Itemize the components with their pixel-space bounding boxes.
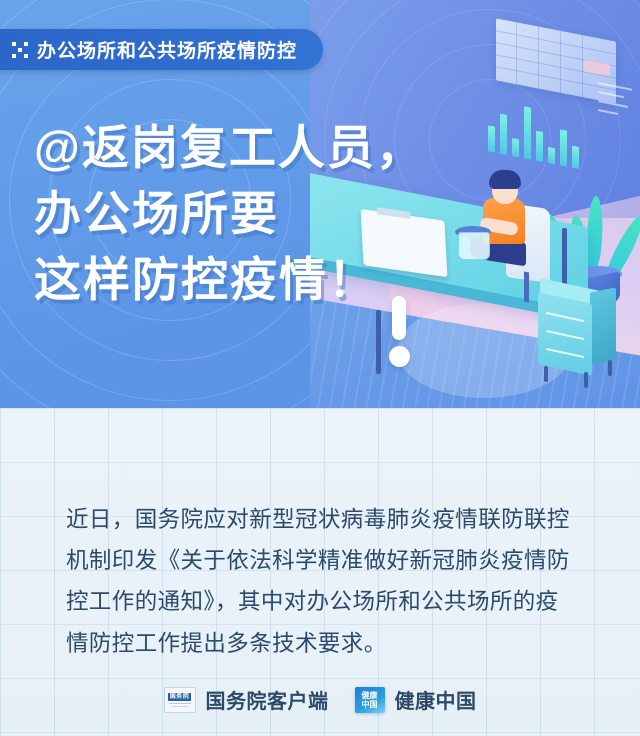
person-hair — [489, 170, 521, 189]
guowuyuan-logo-icon: 国务院 — [164, 687, 196, 713]
guowuyuan-logo-text: 国务院 — [168, 693, 192, 701]
body-paragraph: 近日，国务院应对新型冠状病毒肺炎疫情联防联控机制印发《关于依法科学精准做好新冠肺… — [66, 499, 576, 665]
brand-label-guowuyuan: 国务院客户端 — [206, 685, 329, 714]
brand-label-jiankang: 健康中国 — [395, 685, 477, 714]
brand-jiankang-zhongguo: 健康 中国 健康中国 — [355, 685, 477, 714]
body-section: 近日，国务院应对新型冠状病毒肺炎疫情联防联控机制印发《关于依法科学精准做好新冠肺… — [0, 408, 640, 736]
page-title: @返岗复工人员， 办公场所要 这样防控疫情！ — [34, 116, 425, 314]
pixel-dots-icon — [12, 42, 28, 58]
poster-root: 办公场所和公共场所疫情防控 @返岗复工人员， 办公场所要 这样防控疫情！ 近日，… — [0, 0, 640, 736]
filing-cabinet — [538, 290, 616, 374]
footer-brands: 国务院 国务院客户端 健康 中国 健康中国 — [0, 685, 640, 714]
headline-line-3: 这样防控疫情！ — [34, 248, 425, 312]
chair-leg — [524, 272, 529, 303]
jk-logo-text-1: 健康 — [362, 691, 378, 700]
cup — [458, 232, 490, 260]
jiankang-zhongguo-logo-icon: 健康 中国 — [355, 687, 385, 713]
hero-section: 办公场所和公共场所疫情防控 @返岗复工人员， 办公场所要 这样防控疫情！ — [0, 0, 640, 408]
brand-guowuyuan: 国务院 国务院客户端 — [164, 685, 329, 714]
banner-title: 办公场所和公共场所疫情防控 — [37, 36, 297, 63]
category-banner: 办公场所和公共场所疫情防控 — [0, 29, 323, 70]
headline-line-2: 办公场所要 — [34, 182, 425, 246]
jk-logo-text-2: 中国 — [362, 700, 378, 709]
desk-leg — [376, 310, 381, 374]
wall-line-decoration — [598, 82, 638, 126]
headline-line-1: @返岗复工人员， — [34, 116, 425, 180]
